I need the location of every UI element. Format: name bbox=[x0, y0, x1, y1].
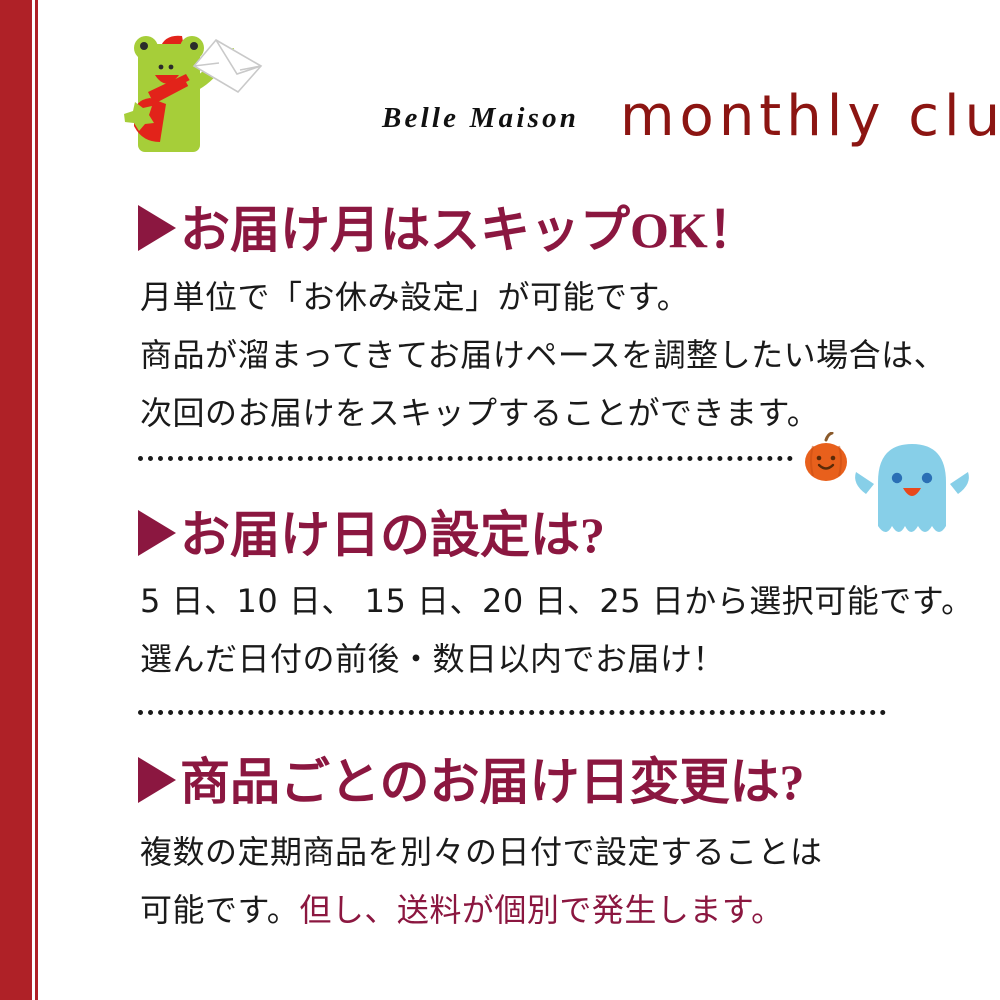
frog-mailman-mascot-icon bbox=[120, 30, 270, 175]
section-heading-skip-label: お届け月はスキップOK！ bbox=[180, 202, 758, 258]
brand-wordmark: Belle Maison bbox=[382, 102, 579, 135]
divider-2 bbox=[138, 710, 886, 715]
section-heading-delivery-date-label: お届け日の設定は? bbox=[180, 507, 605, 563]
promo-banner: Belle Maison monthly club お届け月はスキップOK！ 月… bbox=[0, 0, 1000, 1000]
triangle-marker-icon bbox=[138, 757, 176, 803]
divider-1 bbox=[138, 456, 793, 461]
section-heading-delivery-date: お届け日の設定は? bbox=[138, 495, 605, 567]
page-title: monthly club bbox=[620, 84, 1000, 149]
section-change-line-2: 可能です。但し、送料が個別で発生します。 bbox=[140, 885, 784, 931]
triangle-marker-icon bbox=[138, 205, 176, 251]
section-change-line-2-plain: 可能です。 bbox=[140, 891, 299, 929]
section-change-line-1: 複数の定期商品を別々の日付で設定することは bbox=[140, 827, 823, 873]
section-date-line-2: 選んだ日付の前後・数日以内でお届け！ bbox=[140, 634, 725, 680]
section-change-line-2-accent: 但し、送料が個別で発生します。 bbox=[299, 891, 783, 929]
section-skip-line-2: 商品が溜まってきてお届けペースを調整したい場合は、 bbox=[140, 330, 946, 376]
section-heading-per-item-change-label: 商品ごとのお届け日変更は? bbox=[180, 754, 805, 810]
section-skip-line-3: 次回のお届けをスキップすることができます。 bbox=[140, 388, 819, 434]
section-heading-skip: お届け月はスキップOK！ bbox=[138, 190, 758, 262]
pumpkin-icon bbox=[800, 432, 854, 486]
ghost-icon bbox=[852, 438, 972, 548]
section-date-line-1: 5 日、10 日、 15 日、20 日、25 日から選択可能です。 bbox=[140, 576, 974, 622]
section-heading-per-item-change: 商品ごとのお届け日変更は? bbox=[138, 742, 805, 814]
left-accent-bar bbox=[0, 0, 32, 1000]
left-accent-line bbox=[35, 0, 38, 1000]
banner-header: Belle Maison monthly club bbox=[120, 26, 980, 176]
triangle-marker-icon bbox=[138, 510, 176, 556]
section-skip-line-1: 月単位で「お休み設定」が可能です。 bbox=[140, 272, 689, 318]
